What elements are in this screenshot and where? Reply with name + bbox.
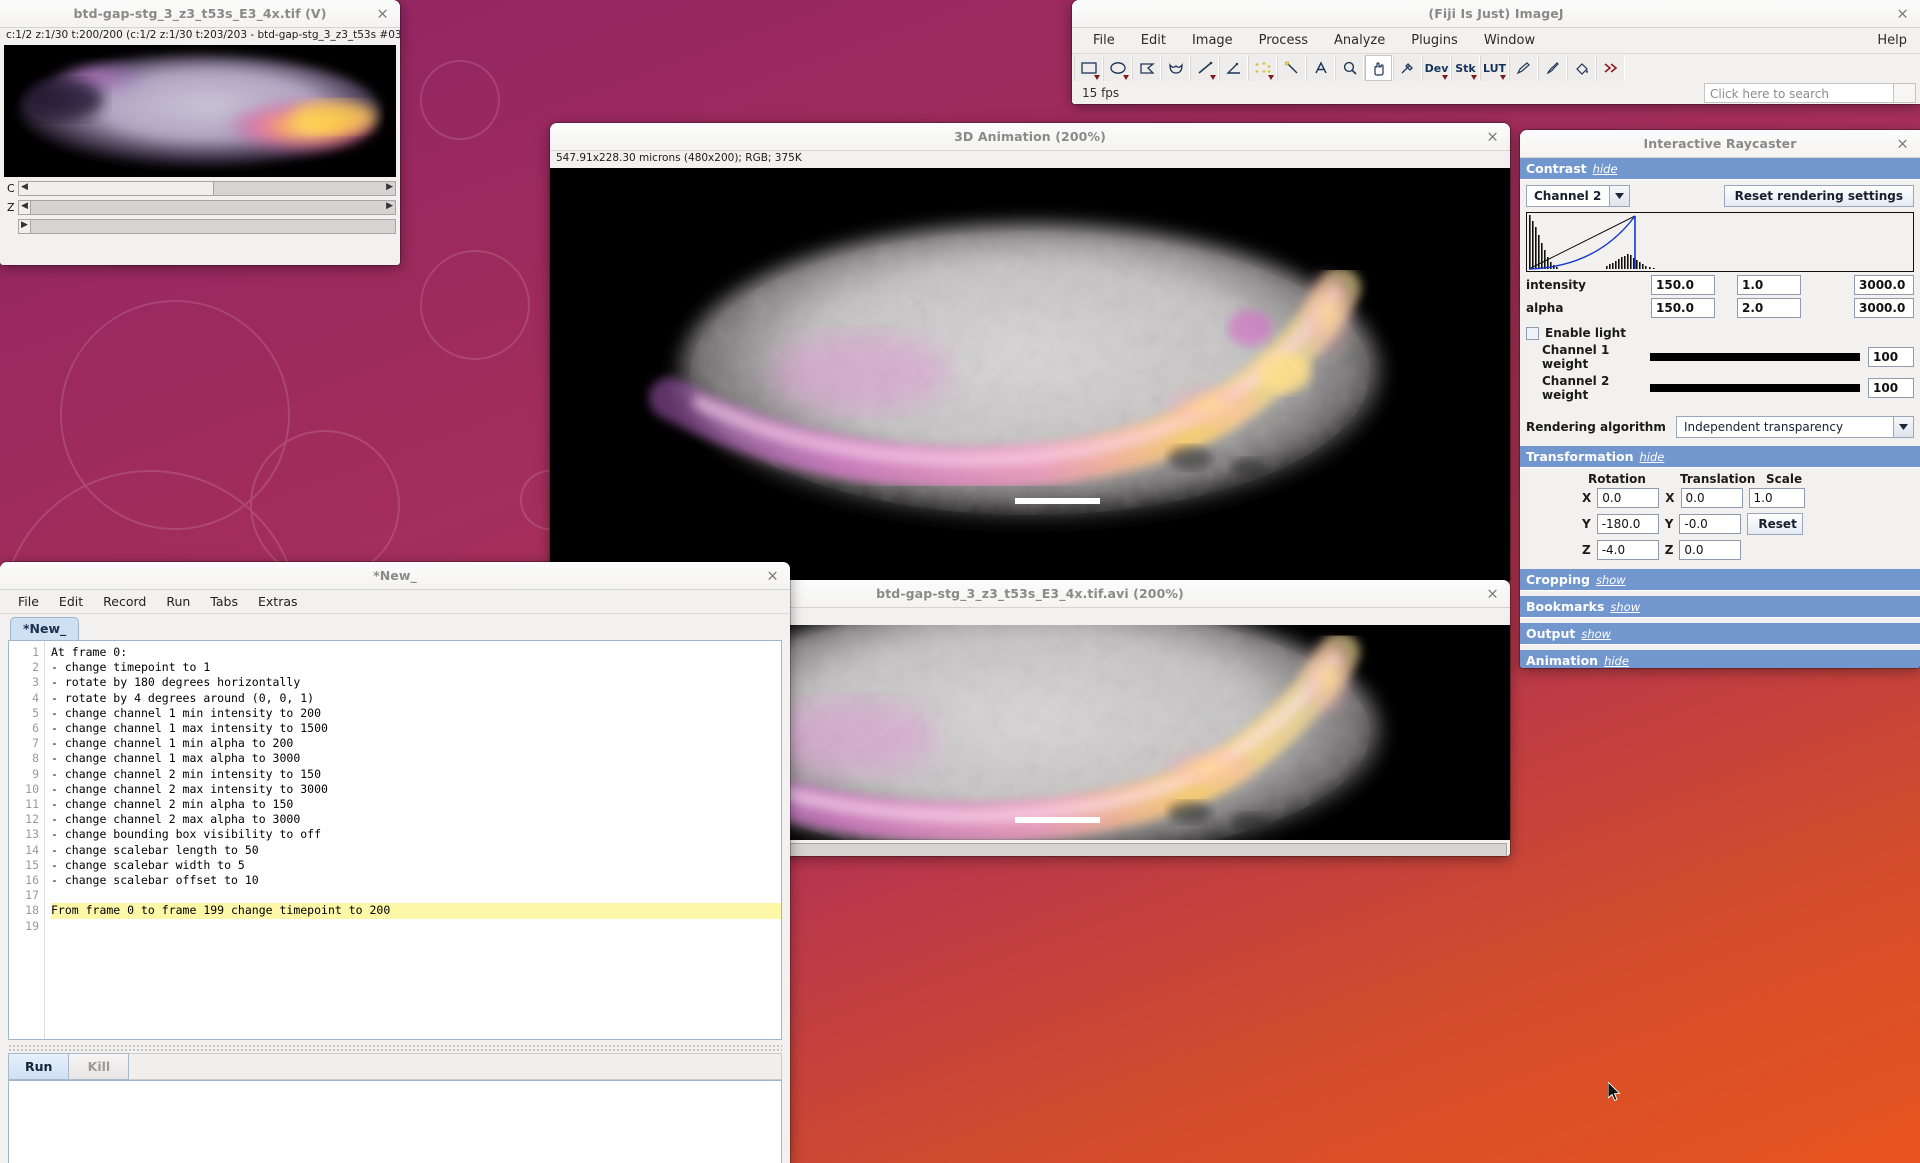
search-input[interactable]: Click here to search bbox=[1704, 83, 1894, 103]
close-icon[interactable]: × bbox=[1484, 585, 1501, 602]
menu-edit[interactable]: Edit bbox=[1128, 30, 1179, 51]
brush-tool[interactable] bbox=[1538, 55, 1567, 81]
editor-console-splitter[interactable] bbox=[8, 1044, 782, 1051]
chevron-down-icon[interactable] bbox=[1893, 417, 1913, 437]
translation-z-input[interactable]: 0.0 bbox=[1679, 540, 1741, 560]
rotation-x-input[interactable]: 0.0 bbox=[1597, 488, 1659, 508]
script-editor-titlebar[interactable]: *New_ × bbox=[0, 562, 790, 590]
animation-3d-window[interactable]: 3D Animation (200%) × 547.91x228.30 micr… bbox=[550, 123, 1510, 582]
angle-tool[interactable] bbox=[1219, 55, 1248, 81]
channel-1-weight-input[interactable]: 100 bbox=[1868, 347, 1914, 367]
output-toggle-link[interactable]: show bbox=[1581, 627, 1611, 641]
translation-column-header: Translation bbox=[1680, 472, 1760, 486]
menu-plugins[interactable]: Plugins bbox=[1398, 30, 1471, 51]
chevron-right-icon[interactable]: ▶ bbox=[386, 201, 393, 211]
stack-viewer-titlebar[interactable]: btd-gap-stg_3_z3_t53s_E3_4x.tif (V) × bbox=[0, 0, 400, 28]
fiji-statusbar: 15 fps Click here to search bbox=[1072, 82, 1920, 104]
fiji-toolbar[interactable]: Dev Stk LUT bbox=[1072, 54, 1920, 82]
polygon-tool[interactable] bbox=[1132, 55, 1161, 81]
lut-tool-label: LUT bbox=[1483, 62, 1506, 75]
kill-button[interactable]: Kill bbox=[69, 1053, 129, 1080]
scalebar bbox=[1015, 498, 1100, 504]
search-icon[interactable] bbox=[1894, 83, 1916, 103]
enable-light-row[interactable]: Enable light bbox=[1526, 326, 1914, 340]
stack-viewer-infobar: c:1/2 z:1/30 t:200/200 (c:1/2 z:1/30 t:2… bbox=[0, 28, 400, 45]
line-number-gutter: 1 2 3 4 5 6 7 8 9 10 11 12 13 14 15 16 1… bbox=[9, 641, 45, 1039]
script-code-area[interactable]: At frame 0:- change timepoint to 1- rota… bbox=[45, 641, 781, 1039]
rendering-algorithm-select[interactable]: Independent transparency bbox=[1676, 416, 1914, 438]
intensity-label: intensity bbox=[1526, 278, 1651, 292]
close-icon[interactable]: × bbox=[374, 5, 391, 22]
menu-process[interactable]: Process bbox=[1246, 30, 1321, 51]
scale-column-header: Scale bbox=[1766, 472, 1802, 486]
animation-3d-canvas[interactable] bbox=[550, 168, 1510, 582]
menu-record[interactable]: Record bbox=[93, 592, 156, 611]
oval-tool[interactable] bbox=[1103, 55, 1132, 81]
channel-slider-label: C bbox=[4, 182, 18, 195]
translation-x-input[interactable]: 0.0 bbox=[1681, 488, 1743, 508]
more-tools-chevrons-icon[interactable] bbox=[1596, 55, 1625, 81]
text-tool[interactable] bbox=[1306, 55, 1335, 81]
translation-x-axis-label: X bbox=[1665, 491, 1674, 505]
animation-3d-infobar: 547.91x228.30 microns (480x200); RGB; 37… bbox=[550, 151, 1510, 168]
channel-2-weight-slider[interactable] bbox=[1650, 384, 1860, 392]
intensity-mid-input[interactable]: 150.0 bbox=[1651, 275, 1715, 295]
dev-tool-label: Dev bbox=[1425, 62, 1449, 75]
enable-light-label: Enable light bbox=[1545, 326, 1626, 340]
point-tool[interactable] bbox=[1248, 55, 1277, 81]
rotation-x-axis-label: X bbox=[1582, 491, 1591, 505]
contrast-body: Channel 2 Reset rendering settings bbox=[1520, 180, 1920, 446]
section-header-transformation[interactable]: Transformation hide bbox=[1520, 446, 1920, 468]
embryo-render-3d bbox=[550, 168, 1510, 582]
alpha-row[interactable]: alpha 150.0 2.0 3000.0 bbox=[1526, 298, 1914, 318]
scale-input[interactable]: 1.0 bbox=[1749, 488, 1805, 508]
contrast-histogram[interactable] bbox=[1526, 212, 1914, 272]
play-icon[interactable]: ▶ bbox=[21, 220, 28, 230]
bookmarks-toggle-link[interactable]: show bbox=[1610, 600, 1640, 614]
dropper-tool[interactable] bbox=[1393, 55, 1422, 81]
stk-tool-label: Stk bbox=[1455, 62, 1476, 75]
script-output-console[interactable] bbox=[8, 1080, 782, 1163]
enable-light-checkbox[interactable] bbox=[1526, 327, 1539, 340]
menu-run[interactable]: Run bbox=[156, 592, 200, 611]
rendering-algorithm-label: Rendering algorithm bbox=[1526, 420, 1676, 434]
alpha-low-input[interactable]: 2.0 bbox=[1737, 298, 1801, 318]
transformation-body: Rotation Translation Scale X 0.0 X 0.0 1… bbox=[1520, 468, 1920, 569]
menu-help[interactable]: Help bbox=[1864, 30, 1920, 51]
translation-y-axis-label: Y bbox=[1665, 517, 1674, 531]
intensity-low-input[interactable]: 1.0 bbox=[1737, 275, 1801, 295]
z-slider-label: Z bbox=[4, 201, 18, 214]
button-row-filler bbox=[129, 1053, 782, 1080]
script-editor-menubar[interactable]: File Edit Record Run Tabs Extras bbox=[0, 590, 790, 614]
rendering-algorithm-row[interactable]: Rendering algorithm Independent transpar… bbox=[1526, 416, 1914, 438]
channel-1-weight-row[interactable]: Channel 1 weight 100 bbox=[1526, 343, 1914, 371]
section-header-cropping[interactable]: Cropping show bbox=[1520, 569, 1920, 591]
stack-viewer-window[interactable]: btd-gap-stg_3_z3_t53s_E3_4x.tif (V) × c:… bbox=[0, 0, 400, 265]
reset-rendering-settings-button[interactable]: Reset rendering settings bbox=[1724, 185, 1914, 207]
animation-3d-title: 3D Animation (200%) bbox=[954, 129, 1106, 144]
stack-image-canvas[interactable] bbox=[4, 45, 396, 177]
animation-3d-titlebar[interactable]: 3D Animation (200%) × bbox=[550, 123, 1510, 151]
hand-tool[interactable] bbox=[1364, 55, 1393, 81]
section-header-bookmarks[interactable]: Bookmarks show bbox=[1520, 596, 1920, 618]
contrast-toggle-link[interactable]: hide bbox=[1593, 162, 1618, 176]
channel-selector-row[interactable]: Channel 2 Reset rendering settings bbox=[1526, 185, 1914, 207]
script-editor-window[interactable]: *New_ × File Edit Record Run Tabs Extras… bbox=[0, 562, 790, 1163]
raycaster-titlebar[interactable]: Interactive Raycaster × bbox=[1520, 130, 1920, 158]
channel-slider-row[interactable]: C ◀ ▶ bbox=[4, 180, 396, 196]
alpha-label: alpha bbox=[1526, 301, 1651, 315]
alpha-mid-input[interactable]: 150.0 bbox=[1651, 298, 1715, 318]
chevron-right-icon[interactable]: ▶ bbox=[386, 182, 393, 192]
fps-label: 15 fps bbox=[1072, 86, 1119, 100]
time-slider-row[interactable]: ▶ bbox=[4, 218, 396, 234]
interactive-raycaster-window[interactable]: Interactive Raycaster × Contrast hide Ch… bbox=[1520, 130, 1920, 668]
section-header-animation[interactable]: Animation hide bbox=[1520, 650, 1920, 668]
output-header-label: Output bbox=[1526, 626, 1575, 641]
intensity-high-input[interactable]: 3000.0 bbox=[1854, 275, 1914, 295]
time-slider[interactable]: ▶ bbox=[18, 219, 396, 234]
translation-y-input[interactable]: -0.0 bbox=[1679, 514, 1741, 534]
channel-1-weight-label: Channel 1 weight bbox=[1542, 343, 1650, 371]
fiji-menubar[interactable]: File Edit Image Process Analyze Plugins … bbox=[1072, 28, 1920, 54]
menu-file[interactable]: File bbox=[1080, 30, 1128, 51]
magnifier-tool[interactable] bbox=[1335, 55, 1364, 81]
transformation-reset-button[interactable]: Reset bbox=[1747, 513, 1803, 535]
cropping-header-label: Cropping bbox=[1526, 572, 1590, 587]
section-header-contrast[interactable]: Contrast hide bbox=[1520, 158, 1920, 180]
stack-viewer-title: btd-gap-stg_3_z3_t53s_E3_4x.tif (V) bbox=[73, 6, 326, 21]
close-icon[interactable]: × bbox=[1894, 135, 1911, 152]
channel-select[interactable]: Channel 2 bbox=[1526, 185, 1630, 207]
menu-tabs[interactable]: Tabs bbox=[200, 592, 248, 611]
bookmarks-header-label: Bookmarks bbox=[1526, 599, 1604, 614]
tab-new[interactable]: *New_ bbox=[10, 617, 79, 640]
transformation-row-z[interactable]: Z -4.0 Z 0.0 bbox=[1526, 540, 1914, 560]
animation-toggle-link[interactable]: hide bbox=[1604, 654, 1629, 668]
menu-image[interactable]: Image bbox=[1179, 30, 1246, 51]
channel-2-weight-label: Channel 2 weight bbox=[1542, 374, 1650, 402]
fiji-title: (Fiji Is Just) ImageJ bbox=[1428, 6, 1563, 21]
lut-tool[interactable]: LUT bbox=[1480, 55, 1509, 81]
rotation-z-axis-label: Z bbox=[1582, 543, 1591, 557]
transformation-row-y[interactable]: Y -180.0 Y -0.0 Reset bbox=[1526, 513, 1914, 535]
freehand-tool[interactable] bbox=[1161, 55, 1190, 81]
rotation-y-input[interactable]: -180.0 bbox=[1597, 514, 1659, 534]
dev-tool[interactable]: Dev bbox=[1422, 55, 1451, 81]
cropping-toggle-link[interactable]: show bbox=[1596, 573, 1626, 587]
scalebar bbox=[1015, 817, 1100, 823]
transformation-row-x[interactable]: X 0.0 X 0.0 1.0 bbox=[1526, 488, 1914, 508]
menu-analyze[interactable]: Analyze bbox=[1321, 30, 1398, 51]
flood-fill-tool[interactable] bbox=[1567, 55, 1596, 81]
rotation-y-axis-label: Y bbox=[1582, 517, 1591, 531]
line-tool[interactable] bbox=[1190, 55, 1219, 81]
script-editor-title: *New_ bbox=[373, 568, 417, 583]
menu-edit[interactable]: Edit bbox=[49, 592, 93, 611]
script-editor-buttons[interactable]: Run Kill bbox=[8, 1053, 782, 1080]
transformation-toggle-link[interactable]: hide bbox=[1640, 450, 1665, 464]
alpha-high-input[interactable]: 3000.0 bbox=[1854, 298, 1914, 318]
mouse-cursor bbox=[1608, 1082, 1621, 1102]
chevron-left-icon[interactable]: ◀ bbox=[21, 201, 28, 211]
transformation-header-label: Transformation bbox=[1526, 449, 1634, 464]
close-icon[interactable]: × bbox=[764, 567, 781, 584]
channel-2-weight-row[interactable]: Channel 2 weight 100 bbox=[1526, 374, 1914, 402]
chevron-down-icon[interactable] bbox=[1609, 186, 1629, 206]
avi-player-title: btd-gap-stg_3_z3_t53s_E3_4x.tif.avi (200… bbox=[876, 586, 1184, 601]
stk-tool[interactable]: Stk bbox=[1451, 55, 1480, 81]
embryo-image-lateral bbox=[4, 45, 396, 177]
rectangle-tool[interactable] bbox=[1074, 55, 1103, 81]
chevron-left-icon[interactable]: ◀ bbox=[21, 182, 28, 192]
translation-z-axis-label: Z bbox=[1665, 543, 1674, 557]
menu-window[interactable]: Window bbox=[1471, 30, 1548, 51]
close-icon[interactable]: × bbox=[1484, 128, 1501, 145]
channel-1-weight-slider[interactable] bbox=[1650, 353, 1860, 361]
rendering-algorithm-value: Independent transparency bbox=[1677, 417, 1893, 437]
intensity-row[interactable]: intensity 150.0 1.0 3000.0 bbox=[1526, 275, 1914, 295]
rotation-column-header: Rotation bbox=[1588, 472, 1674, 486]
fiji-main-window[interactable]: (Fiji Is Just) ImageJ × File Edit Image … bbox=[1072, 0, 1920, 104]
menu-extras[interactable]: Extras bbox=[248, 592, 308, 611]
script-editor-tabstrip[interactable]: *New_ bbox=[0, 614, 790, 640]
rotation-z-input[interactable]: -4.0 bbox=[1597, 540, 1659, 560]
contrast-header-label: Contrast bbox=[1526, 161, 1587, 176]
channel-slider[interactable]: ◀ ▶ bbox=[18, 181, 396, 196]
wand-tool[interactable] bbox=[1277, 55, 1306, 81]
raycaster-title: Interactive Raycaster bbox=[1643, 136, 1796, 151]
menu-file[interactable]: File bbox=[8, 592, 49, 611]
channel-2-weight-input[interactable]: 100 bbox=[1868, 378, 1914, 398]
run-button[interactable]: Run bbox=[8, 1053, 69, 1080]
section-header-output[interactable]: Output show bbox=[1520, 623, 1920, 645]
fiji-titlebar[interactable]: (Fiji Is Just) ImageJ × bbox=[1072, 0, 1920, 28]
transformation-column-headers: Rotation Translation Scale bbox=[1526, 472, 1914, 486]
pencil-tool[interactable] bbox=[1509, 55, 1538, 81]
channel-select-value: Channel 2 bbox=[1527, 186, 1609, 206]
close-icon[interactable]: × bbox=[1894, 5, 1911, 22]
z-slider[interactable]: ◀ ▶ bbox=[18, 200, 396, 215]
script-editor-body[interactable]: 1 2 3 4 5 6 7 8 9 10 11 12 13 14 15 16 1… bbox=[8, 640, 782, 1040]
animation-header-label: Animation bbox=[1526, 653, 1598, 668]
z-slider-row[interactable]: Z ◀ ▶ bbox=[4, 199, 396, 215]
